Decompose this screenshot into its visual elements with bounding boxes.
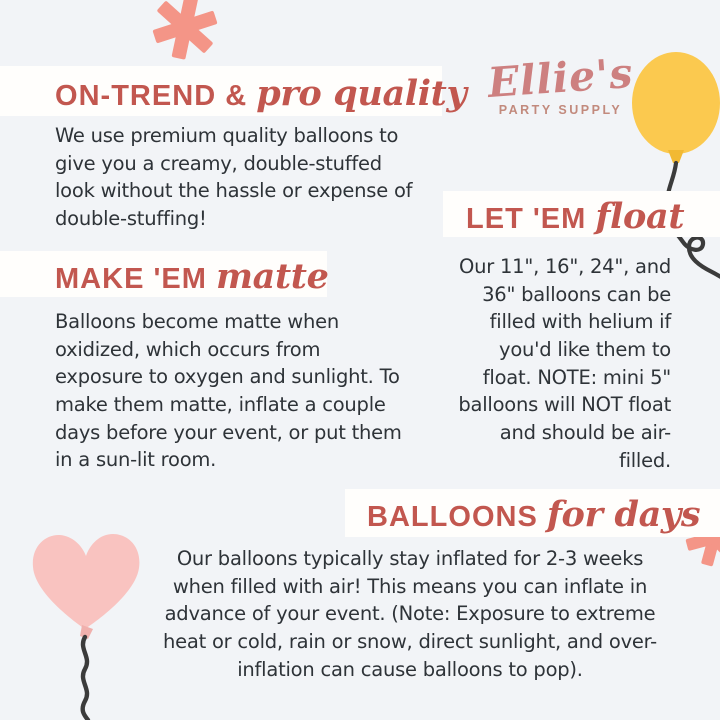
infographic-canvas: ON-TREND & pro quality We use premium qu… xyxy=(0,0,720,720)
yellow-balloon-icon xyxy=(632,52,720,277)
brand-name: Ellie's xyxy=(477,52,644,104)
heading-on-trend-script: pro quality xyxy=(256,76,466,111)
body-days: Our balloons typically stay inflated for… xyxy=(150,545,670,683)
brand-logo: Ellie's PARTY SUPPLY xyxy=(478,58,643,140)
heading-matte-script: matte xyxy=(216,259,329,294)
heading-on-trend: ON-TREND & pro quality xyxy=(55,76,467,111)
heading-float: LET 'EM float xyxy=(466,199,684,234)
heading-days-caps: BALLOONS xyxy=(367,503,538,532)
body-matte: Balloons become matte when oxidized, whi… xyxy=(55,308,411,474)
heading-float-caps: LET 'EM xyxy=(466,205,586,234)
heading-matte-caps: MAKE 'EM xyxy=(55,265,207,294)
body-on-trend: We use premium quality balloons to give … xyxy=(55,122,427,233)
heart-balloon-icon xyxy=(33,534,140,720)
heading-days: BALLOONS for days xyxy=(367,497,700,532)
heading-matte: MAKE 'EM matte xyxy=(55,259,329,294)
body-float: Our 11", 16", 24", and 36" balloons can … xyxy=(449,253,671,475)
heading-float-script: float xyxy=(595,199,684,234)
heading-on-trend-caps: ON-TREND & xyxy=(55,82,247,111)
asterisk-top-icon xyxy=(148,0,222,65)
heading-days-script: for days xyxy=(547,497,700,532)
